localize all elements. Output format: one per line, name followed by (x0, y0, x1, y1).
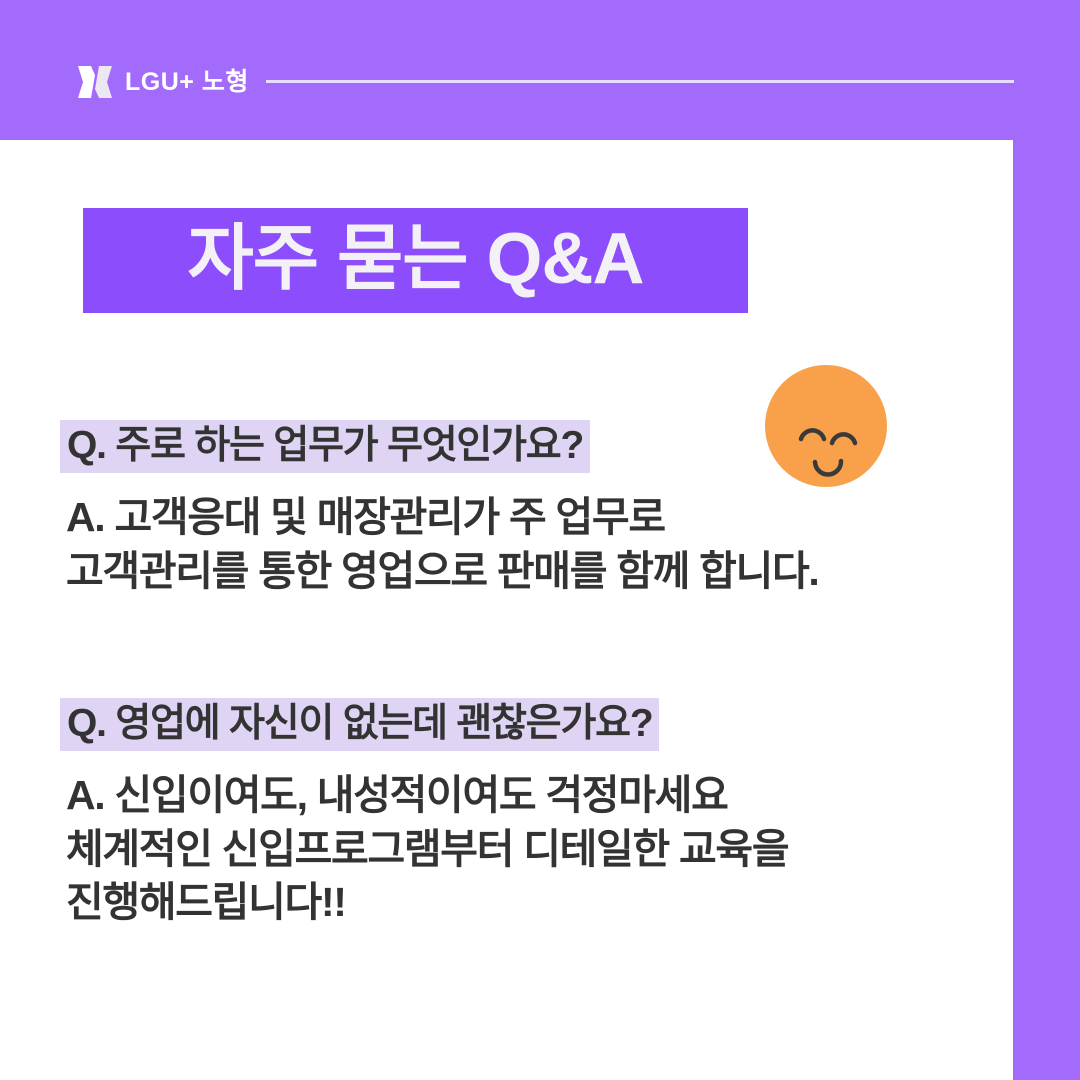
brand-name: LGU+ 노형 (125, 70, 249, 95)
qa-card: LGU+ 노형 자주 묻는 Q&A Q. 주로 하는 업무가 무엇인가요? A.… (0, 0, 1080, 1080)
header-divider (266, 80, 1014, 83)
question-text-1: Q. 주로 하는 업무가 무엇인가요? (60, 420, 590, 473)
brand-lockup: LGU+ 노형 (78, 62, 249, 102)
page-title: 자주 묻는 Q&A (188, 223, 644, 295)
answer-text-1: A. 고객응대 및 매장관리가 주 업무로 고객관리를 통한 영업으로 판매를 … (60, 491, 819, 598)
qa-item-1: Q. 주로 하는 업무가 무엇인가요? A. 고객응대 및 매장관리가 주 업무… (60, 420, 819, 598)
page-title-box: 자주 묻는 Q&A (83, 208, 748, 313)
x-logo-icon (78, 66, 112, 98)
question-text-2: Q. 영업에 자신이 없는데 괜찮은가요? (60, 698, 659, 751)
qa-item-2: Q. 영업에 자신이 없는데 괜찮은가요? A. 신입이여도, 내성적이여도 걱… (60, 698, 788, 929)
header-bar: LGU+ 노형 (0, 0, 1080, 140)
answer-text-2: A. 신입이여도, 내성적이여도 걱정마세요 체계적인 신입프로그램부터 디테일… (60, 769, 788, 929)
